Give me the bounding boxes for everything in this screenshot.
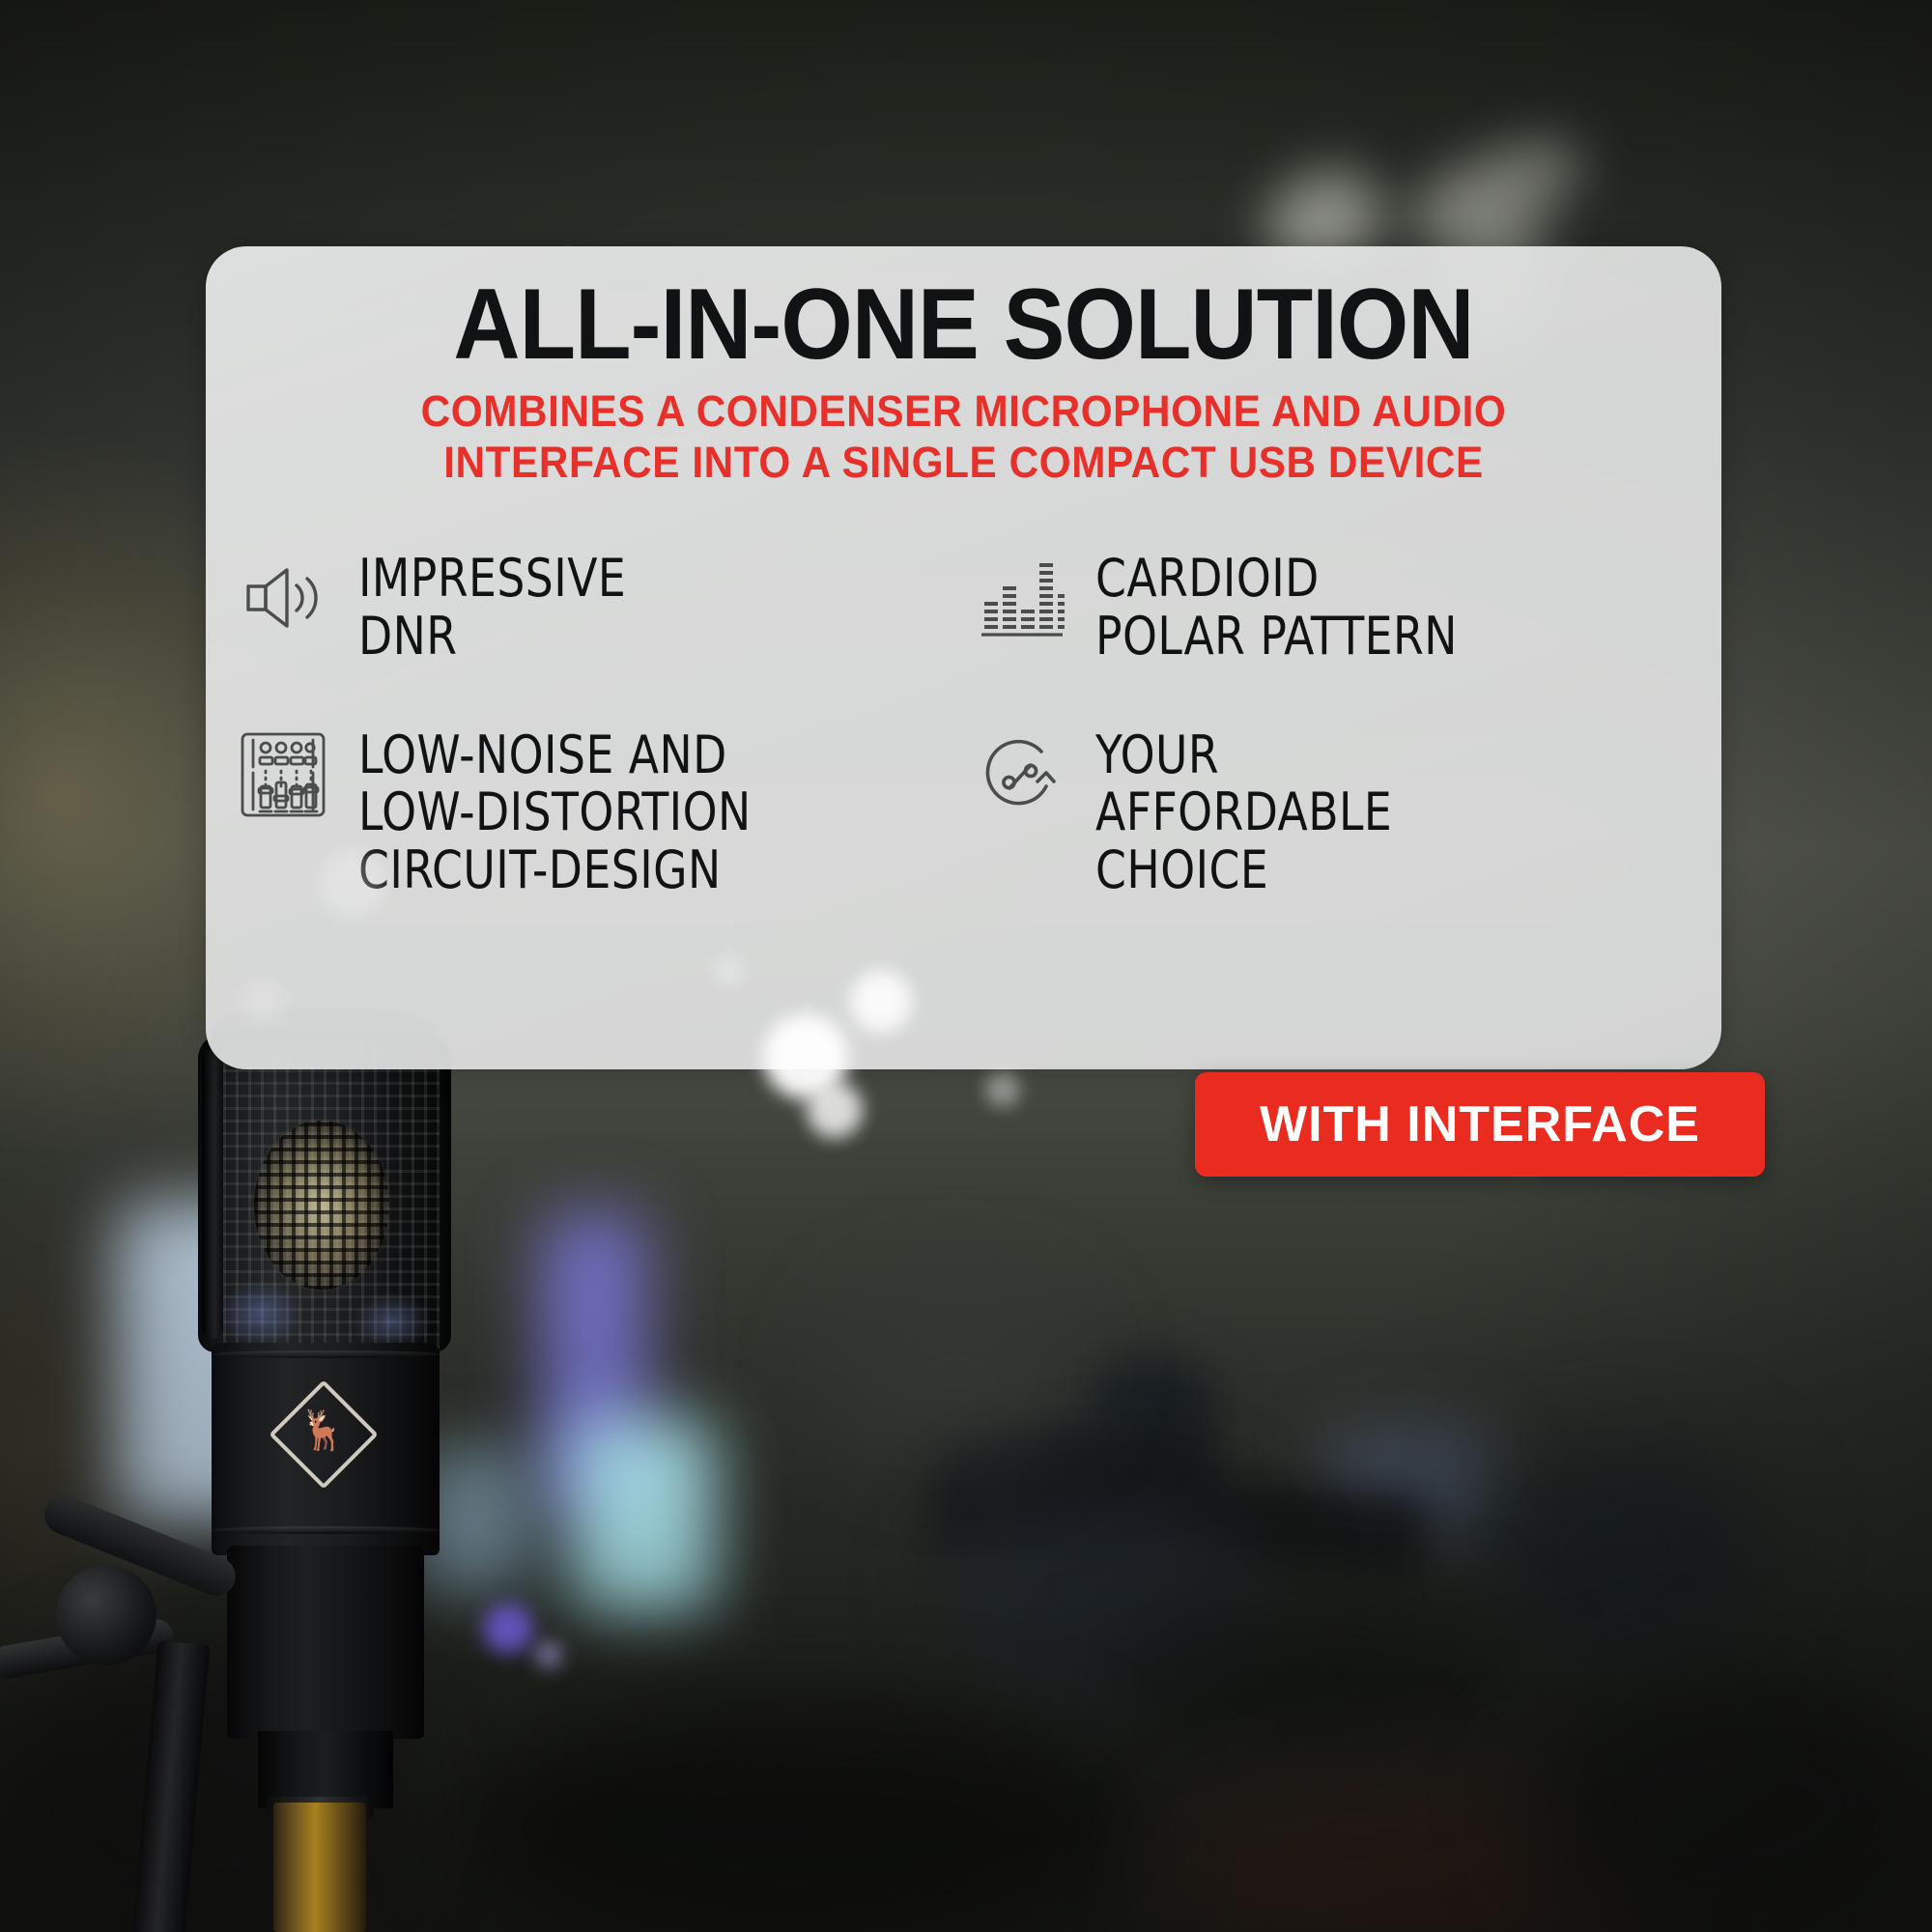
feature-label: LOW-NOISE AND LOW-DISTORTION CIRCUIT-DES… bbox=[358, 724, 752, 898]
mic-shaft bbox=[273, 1803, 366, 1932]
promo-graphic: 🦌 ALL-IN-ONE SOLUTION COMBINES A CONDENS… bbox=[0, 0, 1932, 1932]
antelope-logo-glyph: 🦌 bbox=[298, 1408, 343, 1453]
feature-item-impressive-dnr: IMPRESSIVE DNR bbox=[233, 548, 943, 665]
subtitle-line-1: COMBINES A CONDENSER MICROPHONE AND AUDI… bbox=[251, 385, 1676, 437]
with-interface-button[interactable]: WITH INTERFACE bbox=[1195, 1072, 1765, 1177]
equalizer-bars-icon bbox=[970, 548, 1070, 648]
feature-list: IMPRESSIVE DNR bbox=[206, 548, 1721, 898]
feature-label: CARDIOID POLAR PATTERN bbox=[1095, 548, 1458, 665]
bokeh-light bbox=[807, 1082, 863, 1138]
bokeh-light bbox=[850, 971, 912, 1033]
subtitle-line-2: INTERFACE INTO A SINGLE COMPACT USB DEVI… bbox=[251, 437, 1676, 488]
mic-ring bbox=[212, 1350, 440, 1358]
feature-label: IMPRESSIVE DNR bbox=[358, 548, 626, 665]
bokeh-light bbox=[319, 850, 386, 918]
page-title: ALL-IN-ONE SOLUTION bbox=[267, 246, 1661, 376]
mic-ring bbox=[212, 1526, 440, 1534]
mixer-console-icon bbox=[233, 724, 333, 825]
percent-refresh-icon bbox=[970, 724, 1070, 825]
bokeh-light bbox=[985, 1072, 1020, 1107]
mic-head-edge bbox=[202, 1049, 223, 1339]
bokeh-light bbox=[715, 956, 744, 985]
feature-label: YOUR AFFORDABLE CHOICE bbox=[1095, 724, 1392, 898]
mic-blue-reflection bbox=[217, 1280, 304, 1348]
condenser-microphone: 🦌 bbox=[198, 1005, 469, 1932]
info-card: ALL-IN-ONE SOLUTION COMBINES A CONDENSER… bbox=[206, 246, 1721, 1069]
bokeh-light bbox=[241, 980, 284, 1023]
mic-blue-reflection bbox=[353, 1293, 430, 1350]
subtitle: COMBINES A CONDENSER MICROPHONE AND AUDI… bbox=[251, 385, 1676, 488]
feature-item-cardioid-polar-pattern: CARDIOID POLAR PATTERN bbox=[970, 548, 1680, 665]
feature-item-your-affordable-choice: YOUR AFFORDABLE CHOICE bbox=[970, 724, 1680, 898]
mic-stand-knob bbox=[56, 1565, 156, 1665]
mic-glow-mesh-overlay bbox=[254, 1121, 389, 1290]
mic-lower-body bbox=[227, 1546, 424, 1739]
mic-grille-head bbox=[198, 1034, 451, 1352]
speaker-wave-icon bbox=[233, 548, 333, 648]
